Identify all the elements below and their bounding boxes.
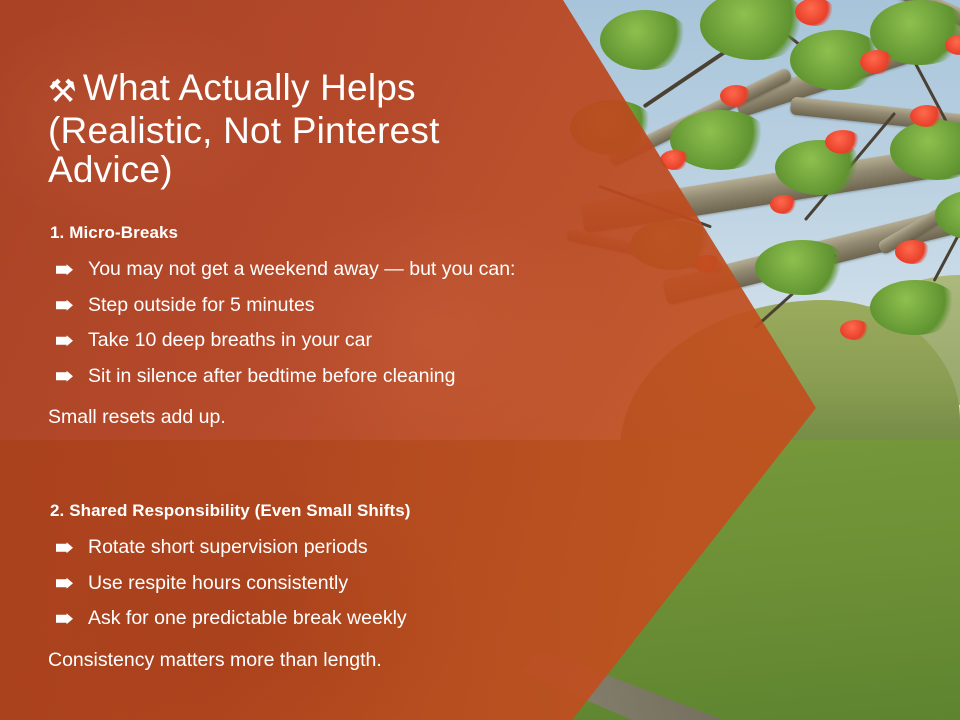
arrow-bullet-icon (56, 335, 73, 346)
bullet-list: You may not get a weekend away — but you… (48, 252, 648, 394)
arrow-bullet-icon (56, 264, 73, 275)
list-item: Step outside for 5 minutes (48, 288, 648, 324)
slide-title: ⚒What Actually Helps (Realistic, Not Pin… (48, 68, 518, 189)
list-item: You may not get a weekend away — but you… (48, 252, 648, 288)
arrow-bullet-icon (56, 542, 73, 553)
bullet-list: Rotate short supervision periods Use res… (48, 530, 648, 637)
list-item: Sit in silence after bedtime before clea… (48, 359, 648, 395)
list-item: Rotate short supervision periods (48, 530, 648, 566)
hammer-and-wrench-icon: ⚒ (48, 73, 77, 109)
list-item: Take 10 deep breaths in your car (48, 323, 648, 359)
section-shared-responsibility: 2. Shared Responsibility (Even Small Shi… (48, 500, 648, 678)
list-item-label: You may not get a weekend away — but you… (88, 258, 515, 280)
section-closing-line: Consistency matters more than length. (48, 643, 648, 678)
list-item-label: Rotate short supervision periods (88, 536, 368, 558)
list-item-label: Sit in silence after bedtime before clea… (88, 365, 455, 387)
list-item-label: Ask for one predictable break weekly (88, 607, 407, 629)
list-item: Use respite hours consistently (48, 566, 648, 602)
list-item-label: Use respite hours consistently (88, 572, 348, 594)
arrow-bullet-icon (56, 300, 73, 311)
list-item-label: Take 10 deep breaths in your car (88, 329, 372, 351)
section-heading: 1. Micro-Breaks (50, 222, 648, 244)
section-closing-line: Small resets add up. (48, 400, 648, 435)
slide-title-text: What Actually Helps (Realistic, Not Pint… (48, 67, 440, 190)
list-item: Ask for one predictable break weekly (48, 601, 648, 637)
list-item-label: Step outside for 5 minutes (88, 294, 315, 316)
arrow-bullet-icon (56, 371, 73, 382)
section-heading: 2. Shared Responsibility (Even Small Shi… (50, 500, 648, 522)
section-micro-breaks: 1. Micro-Breaks You may not get a weeken… (48, 222, 648, 435)
arrow-bullet-icon (56, 578, 73, 589)
arrow-bullet-icon (56, 613, 73, 624)
presentation-slide: ⚒What Actually Helps (Realistic, Not Pin… (0, 0, 960, 720)
